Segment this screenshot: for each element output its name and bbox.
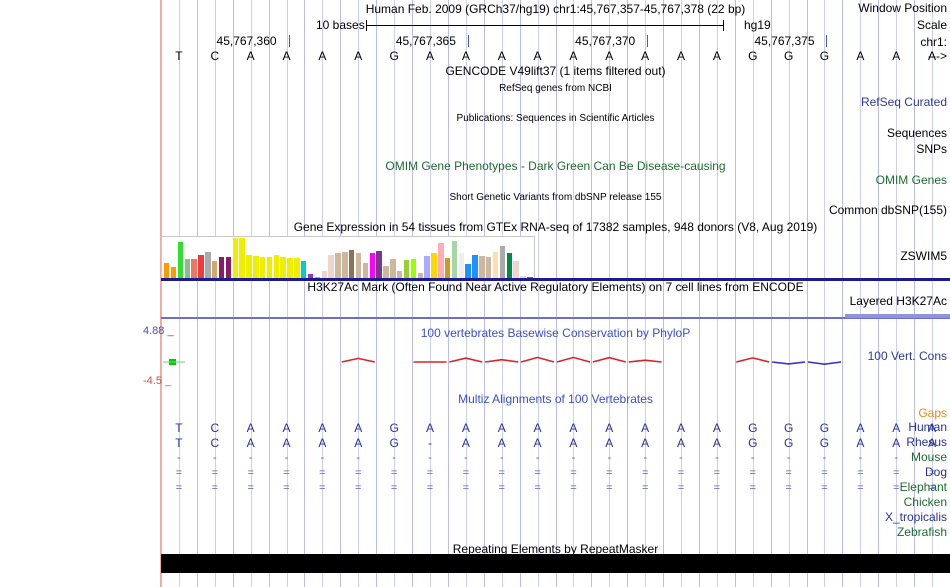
alignment-gap-dash: - xyxy=(736,452,770,464)
alignment-gap-dash: - xyxy=(592,452,626,464)
alignment-gap-dash: - xyxy=(843,452,877,464)
alignment-unaligned-double: = xyxy=(413,467,447,479)
sequence-base: A xyxy=(270,49,304,63)
alignment-base: T xyxy=(162,421,196,435)
alignment-gap-dash: - xyxy=(879,452,913,464)
gtex-tissue-bar[interactable] xyxy=(191,259,196,278)
alignment-unaligned-double: = xyxy=(413,482,447,494)
sequence-base: A xyxy=(664,49,698,63)
sequence-base: G xyxy=(807,49,841,63)
alignment-gap-dash: - xyxy=(556,452,590,464)
gtex-tissue-bar[interactable] xyxy=(431,253,436,278)
conservation-axis-min: -4.5 _ xyxy=(143,375,171,387)
conservation-score-peak xyxy=(485,360,518,362)
gtex-baseline xyxy=(161,278,950,281)
track-label-layered-h3k27ac[interactable]: Layered H3K27Ac xyxy=(792,295,950,308)
alignment-unaligned-double: = xyxy=(556,482,590,494)
alignment-base: C xyxy=(198,421,232,435)
gtex-tissue-bar[interactable] xyxy=(198,255,203,278)
alignment-base: G xyxy=(807,421,841,435)
scale-ruler xyxy=(366,25,724,26)
sequence-base: A xyxy=(234,49,268,63)
alignment-base: A xyxy=(449,421,483,435)
gtex-expression-chart[interactable] xyxy=(161,236,535,278)
alignment-gap-dash: - xyxy=(305,452,339,464)
ruler-tick-mark xyxy=(289,35,290,47)
conservation-score-peak xyxy=(342,358,375,362)
conservation-score-peak xyxy=(736,358,769,362)
alignment-unaligned-double: = xyxy=(341,482,375,494)
sequence-base: A xyxy=(449,49,483,63)
track-label-sequences[interactable]: Sequences xyxy=(792,127,950,140)
species-label-chicken[interactable]: Chicken xyxy=(792,496,950,509)
alignment-base: G xyxy=(736,421,770,435)
gtex-tissue-bar[interactable] xyxy=(322,271,327,278)
gtex-bars-container xyxy=(162,237,534,278)
gtex-tissue-bar[interactable] xyxy=(452,241,457,278)
gtex-tissue-bar[interactable] xyxy=(370,253,375,278)
conservation-score-peak xyxy=(772,362,805,364)
sequence-base: G xyxy=(377,49,411,63)
alignment-base: A xyxy=(664,421,698,435)
gtex-tissue-bar[interactable] xyxy=(342,252,347,278)
alignment-base: A xyxy=(915,436,949,450)
repeatmasker-feature-bar[interactable] xyxy=(161,554,950,573)
alignment-gap-dash: - xyxy=(341,452,375,464)
alignment-base: A xyxy=(341,436,375,450)
track-label-omim-genes[interactable]: OMIM Genes xyxy=(792,174,950,187)
gtex-tissue-bar[interactable] xyxy=(486,257,491,278)
gtex-tissue-bar[interactable] xyxy=(171,267,176,278)
sequence-base: A xyxy=(485,49,519,63)
conservation-score-peak xyxy=(449,358,482,362)
gtex-tissue-bar[interactable] xyxy=(328,255,333,278)
alignment-base: A xyxy=(592,421,626,435)
conservation-phylop-plot xyxy=(161,332,950,384)
dbsnp-track-title: Short Genetic Variants from dbSNP releas… xyxy=(161,191,950,204)
alignment-base: A xyxy=(449,436,483,450)
alignment-base: A xyxy=(915,421,949,435)
sequence-base: A xyxy=(521,49,555,63)
h3k27ac-track-title: H3K27Ac Mark (Often Found Near Active Re… xyxy=(161,281,950,294)
alignment-base: G xyxy=(807,436,841,450)
alignment-gap-dash: - xyxy=(628,452,662,464)
sequence-base: A xyxy=(843,49,877,63)
sequence-base: A xyxy=(879,49,913,63)
alignment-base: G xyxy=(772,421,806,435)
gtex-tissue-bar[interactable] xyxy=(507,253,512,278)
omim-track-title: OMIM Gene Phenotypes - Dark Green Can Be… xyxy=(161,160,950,173)
gtex-tissue-bar[interactable] xyxy=(233,238,238,278)
alignment-base: T xyxy=(162,436,196,450)
ruler-tick-label: 45,767,365 xyxy=(396,34,456,48)
sequence-base: A xyxy=(592,49,626,63)
alignment-base: A xyxy=(556,436,590,450)
alignment-base: A xyxy=(270,421,304,435)
alignment-unaligned-double: = xyxy=(341,467,375,479)
alignment-unaligned-double: = xyxy=(628,482,662,494)
alignment-base: A xyxy=(485,436,519,450)
alignment-base: A xyxy=(879,436,913,450)
gtex-tissue-bar[interactable] xyxy=(205,252,210,278)
alignment-unaligned-double: = xyxy=(521,467,555,479)
alignment-base: A xyxy=(521,421,555,435)
alignment-base: A xyxy=(234,436,268,450)
conservation-score-peak xyxy=(557,357,590,362)
gtex-tissue-bar[interactable] xyxy=(479,256,484,278)
alignment-gap-dash: - xyxy=(485,452,519,464)
h3k27ac-signal-line xyxy=(161,317,950,319)
sequence-base: A xyxy=(341,49,375,63)
alignment-unaligned-double: = xyxy=(377,467,411,479)
track-label-gaps[interactable]: Gaps xyxy=(792,407,950,420)
track-label-refseq-curated[interactable]: RefSeq Curated xyxy=(792,96,950,109)
alignment-unaligned-double: = xyxy=(915,482,949,494)
gencode-track-title: GENCODE V49lift37 (1 items filtered out) xyxy=(161,65,950,78)
publications-track-title: Publications: Sequences in Scientific Ar… xyxy=(161,112,950,125)
gtex-tissue-bar[interactable] xyxy=(493,252,498,278)
gtex-tissue-bar[interactable] xyxy=(472,255,477,278)
gtex-tissue-bar[interactable] xyxy=(239,238,244,278)
alignment-gap-dash: - xyxy=(162,452,196,464)
conservation-score-peak xyxy=(521,357,554,362)
alignment-unaligned-double: = xyxy=(270,482,304,494)
gtex-tissue-bar[interactable] xyxy=(404,260,409,278)
track-label-snps[interactable]: SNPs xyxy=(792,143,950,156)
gtex-tissue-bar[interactable] xyxy=(383,266,388,278)
gtex-tissue-bar[interactable] xyxy=(438,243,443,278)
gtex-tissue-bar[interactable] xyxy=(287,258,292,278)
genome-browser-view: Window Position Human Feb. 2009 (GRCh37/… xyxy=(0,0,950,587)
gtex-tissue-bar[interactable] xyxy=(267,257,272,278)
alignment-unaligned-double: = xyxy=(736,482,770,494)
alignment-unaligned-double: = xyxy=(485,467,519,479)
alignment-unaligned-double: = xyxy=(198,482,232,494)
sequence-base: A xyxy=(700,49,734,63)
alignment-unaligned-double: = xyxy=(843,482,877,494)
gtex-tissue-bar[interactable] xyxy=(301,261,306,278)
sequence-base: A xyxy=(628,49,662,63)
alignment-base: C xyxy=(198,436,232,450)
gtex-tissue-bar[interactable] xyxy=(445,258,450,278)
gtex-track-title: Gene Expression in 54 tissues from GTEx … xyxy=(161,221,950,234)
gtex-tissue-bar[interactable] xyxy=(411,259,416,278)
ruler-tick-label: 45,767,360 xyxy=(217,34,277,48)
alignment-unaligned-double: = xyxy=(807,482,841,494)
h3k27ac-signal-peak xyxy=(845,314,950,318)
gtex-tissue-bar[interactable] xyxy=(465,264,470,278)
conservation-score-peak xyxy=(629,360,662,362)
alignment-base: A xyxy=(700,421,734,435)
gtex-tissue-bar[interactable] xyxy=(246,255,251,278)
alignment-base: A xyxy=(700,436,734,450)
ruler-tick-mark xyxy=(826,35,827,47)
gtex-tissue-bar[interactable] xyxy=(260,257,265,278)
alignment-base: A xyxy=(556,421,590,435)
alignment-base: A xyxy=(879,421,913,435)
alignment-unaligned-double: = xyxy=(664,467,698,479)
gtex-tissue-bar[interactable] xyxy=(185,259,190,278)
sequence-base: C xyxy=(198,49,232,63)
alignment-unaligned-double: = xyxy=(700,467,734,479)
ruler-tick-mark xyxy=(468,35,469,47)
alignment-unaligned-double: = xyxy=(449,482,483,494)
gtex-tissue-bar[interactable] xyxy=(178,242,183,278)
alignment-base: A xyxy=(664,436,698,450)
assembly-label: hg19 xyxy=(744,18,771,32)
conservation-score-peak xyxy=(808,362,841,364)
alignment-base: G xyxy=(377,421,411,435)
alignment-base: A xyxy=(628,436,662,450)
gtex-tissue-bar[interactable] xyxy=(459,253,464,278)
alignment-base: A xyxy=(305,421,339,435)
conservation-axis-max: 4.88 _ xyxy=(143,325,174,337)
alignment-gap-dash: - xyxy=(449,452,483,464)
alignment-gap-dash: - xyxy=(198,452,232,464)
alignment-base: A xyxy=(305,436,339,450)
alignment-unaligned-double: = xyxy=(449,467,483,479)
alignment-unaligned-double: = xyxy=(700,482,734,494)
alignment-gap-dash: - xyxy=(270,452,304,464)
ruler-tick-label: 45,767,375 xyxy=(754,34,814,48)
gtex-tissue-bar[interactable] xyxy=(294,258,299,278)
ruler-tick-mark xyxy=(647,35,648,47)
gtex-tissue-bar[interactable] xyxy=(390,259,395,278)
gtex-tissue-bar[interactable] xyxy=(226,257,231,278)
gtex-tissue-bar[interactable] xyxy=(219,257,224,278)
alignment-unaligned-double: = xyxy=(485,482,519,494)
alignment-gap-dash: - xyxy=(377,452,411,464)
alignment-base: A xyxy=(628,421,662,435)
window-position-value: Human Feb. 2009 (GRCh37/hg19) chr1:45,76… xyxy=(161,2,950,16)
alignment-unaligned-double: = xyxy=(556,467,590,479)
alignment-unaligned-double: = xyxy=(305,482,339,494)
alignment-unaligned-double: = xyxy=(772,482,806,494)
gtex-tissue-bar[interactable] xyxy=(397,271,402,278)
alignment-unaligned-double: = xyxy=(521,482,555,494)
alignment-unaligned-double: = xyxy=(879,467,913,479)
gtex-tissue-bar[interactable] xyxy=(349,250,354,278)
alignment-base: A xyxy=(521,436,555,450)
gtex-tissue-bar[interactable] xyxy=(274,255,279,278)
gtex-tissue-bar[interactable] xyxy=(424,256,429,278)
alignment-base: G xyxy=(736,436,770,450)
scale-bar-row: 10 bases hg19 xyxy=(161,18,950,33)
alignment-gap-dash: - xyxy=(700,452,734,464)
alignment-unaligned-double: = xyxy=(843,467,877,479)
sequence-base: A xyxy=(305,49,339,63)
alignment-unaligned-double: = xyxy=(915,467,949,479)
alignment-unaligned-double: = xyxy=(162,467,196,479)
gtex-tissue-bar[interactable] xyxy=(164,263,169,278)
track-label-common-dbsnp[interactable]: Common dbSNP(155) xyxy=(792,204,950,217)
alignment-unaligned-double: = xyxy=(664,482,698,494)
alignment-unaligned-double: = xyxy=(772,467,806,479)
alignment-gap-dash: - xyxy=(807,452,841,464)
gtex-tissue-bar[interactable] xyxy=(376,251,381,278)
gtex-tissue-bar[interactable] xyxy=(363,263,368,278)
sequence-base: T xyxy=(162,49,196,63)
gtex-tissue-bar[interactable] xyxy=(356,253,361,278)
alignment-unaligned-double: = xyxy=(592,482,626,494)
alignment-unaligned-double: = xyxy=(234,467,268,479)
gtex-tissue-bar[interactable] xyxy=(500,246,505,278)
alignment-base: A xyxy=(592,436,626,450)
gtex-tissue-bar[interactable] xyxy=(335,253,340,278)
ruler-tick-label: 45,767,370 xyxy=(575,34,635,48)
alignment-unaligned-double: = xyxy=(162,482,196,494)
refseq-track-title: RefSeq genes from NCBI xyxy=(161,82,950,95)
multiz-track-title: Multiz Alignments of 100 Vertebrates xyxy=(161,393,950,406)
sequence-base: A xyxy=(413,49,447,63)
sequence-base: A xyxy=(556,49,590,63)
alignment-base: G xyxy=(377,436,411,450)
chrom-label: chr1: xyxy=(792,36,950,49)
alignment-unaligned-double: = xyxy=(628,467,662,479)
alignment-base: A xyxy=(270,436,304,450)
alignment-unaligned-double: = xyxy=(592,467,626,479)
alignment-base: A xyxy=(341,421,375,435)
alignment-unaligned-double: = xyxy=(198,467,232,479)
alignment-unaligned-double: = xyxy=(879,482,913,494)
species-label-x_tropicalis[interactable]: X_tropicalis xyxy=(792,511,950,524)
alignment-gap-dash: - xyxy=(772,452,806,464)
sequence-base: G xyxy=(772,49,806,63)
alignment-gap-dash: - xyxy=(521,452,555,464)
alignment-unaligned-double: = xyxy=(234,482,268,494)
alignment-base: A xyxy=(413,421,447,435)
species-label-zebrafish[interactable]: Zebrafish xyxy=(792,526,950,539)
alignment-unaligned-double: = xyxy=(270,467,304,479)
alignment-base: G xyxy=(772,436,806,450)
alignment-base: A xyxy=(485,421,519,435)
gtex-tissue-bar[interactable] xyxy=(513,261,518,278)
alignment-base: - xyxy=(413,436,447,450)
alignment-unaligned-double: = xyxy=(377,482,411,494)
conservation-score-peak xyxy=(593,358,626,362)
gtex-tissue-bar[interactable] xyxy=(253,256,258,278)
alignment-gap-dash: - xyxy=(664,452,698,464)
alignment-unaligned-double: = xyxy=(305,467,339,479)
gtex-tissue-bar[interactable] xyxy=(212,261,217,278)
sequence-base: A xyxy=(915,49,949,63)
gtex-tissue-bar[interactable] xyxy=(280,257,285,278)
alignment-gap-dash: - xyxy=(234,452,268,464)
alignment-gap-dash: - xyxy=(915,452,949,464)
alignment-unaligned-double: = xyxy=(736,467,770,479)
alignment-unaligned-double: = xyxy=(807,467,841,479)
alignment-gap-dash: - xyxy=(413,452,447,464)
alignment-base: A xyxy=(843,436,877,450)
track-label-gtex-gene[interactable]: ZSWIM5 xyxy=(792,250,950,263)
scale-text: 10 bases xyxy=(316,18,365,32)
alignment-base: A xyxy=(234,421,268,435)
alignment-base: A xyxy=(843,421,877,435)
sequence-base: G xyxy=(736,49,770,63)
